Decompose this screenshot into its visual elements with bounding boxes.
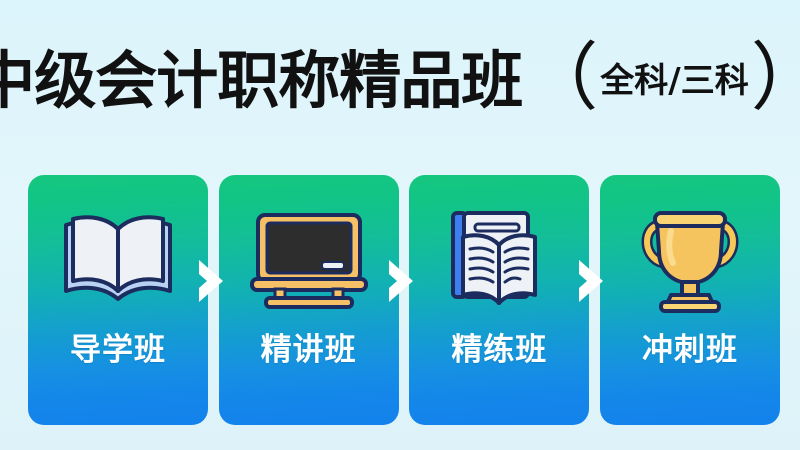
course-stage-card-4[interactable]: 冲刺班: [600, 175, 780, 425]
page-title-paren-close: ）: [751, 41, 800, 115]
course-stage-label-1: 导学班: [70, 335, 166, 366]
trophy-icon: [600, 175, 780, 335]
course-stage-label-4: 冲刺班: [642, 335, 738, 366]
page-title-main: 中级会计职称精品班: [0, 50, 522, 112]
page-title-paren-open: （: [524, 41, 598, 115]
course-stage-list: 导学班 精讲班: [28, 175, 780, 425]
open-book-icon: [28, 175, 208, 335]
course-stage-card-2[interactable]: 精讲班: [219, 175, 399, 425]
course-stage-card-3[interactable]: 精练班: [409, 175, 589, 425]
blackboard-icon: [219, 175, 399, 335]
course-stage-label-2: 精讲班: [261, 335, 357, 366]
page-title: 中级会计职称精品班 （ 全科/三科 ）: [0, 42, 800, 120]
course-stage-label-3: 精练班: [451, 335, 547, 366]
page-title-subtitle: 全科/三科: [600, 64, 748, 98]
open-textbook-icon: [409, 175, 589, 335]
course-stage-card-1[interactable]: 导学班: [28, 175, 208, 425]
